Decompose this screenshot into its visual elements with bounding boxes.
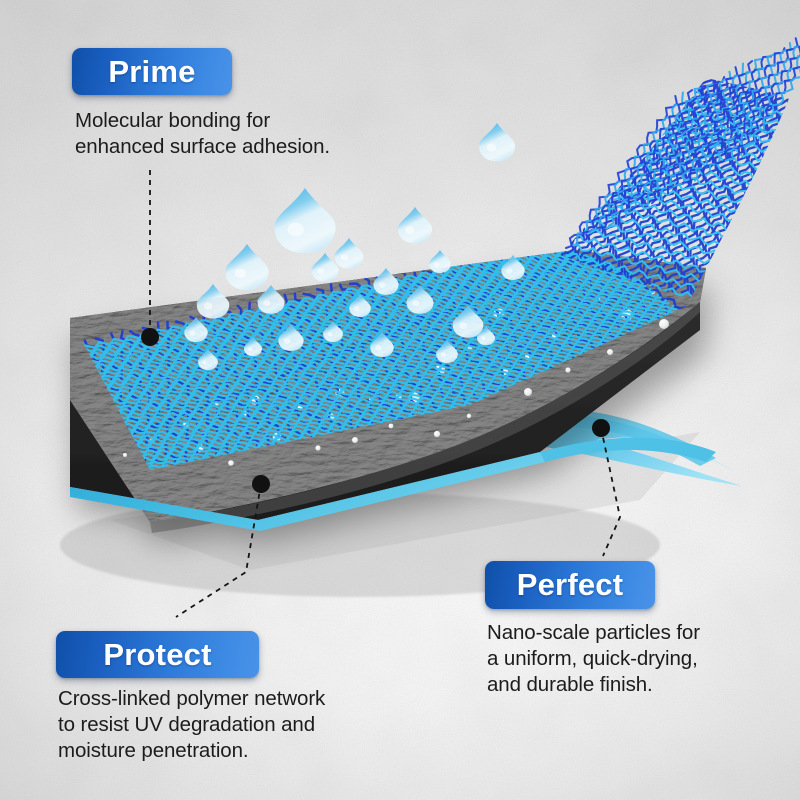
badge-perfect-label: Perfect <box>517 567 624 603</box>
droplet-highlight <box>235 268 246 278</box>
droplet-highlight <box>287 223 303 237</box>
droplet-highlight <box>412 300 419 306</box>
droplet-highlight <box>506 268 512 273</box>
water-droplet <box>429 250 451 273</box>
droplet-highlight <box>341 254 349 260</box>
droplet-highlight <box>284 338 291 344</box>
badge-protect[interactable]: Protect <box>56 631 259 678</box>
droplet-highlight <box>487 143 497 151</box>
droplet-highlight <box>263 300 270 306</box>
droplet-highlight <box>317 268 324 274</box>
droplet-highlight <box>459 322 467 329</box>
water-droplet <box>311 253 338 282</box>
droplet-highlight <box>441 352 447 357</box>
badge-prime[interactable]: Prime <box>72 48 232 95</box>
water-droplet <box>479 123 515 161</box>
water-droplet <box>373 268 398 295</box>
badge-prime-label: Prime <box>108 54 195 90</box>
droplet-highlight <box>379 282 386 288</box>
water-droplet <box>335 238 364 269</box>
droplet-highlight <box>375 345 381 350</box>
water-droplet <box>274 188 335 253</box>
description-protect: Cross-linked polymer network to resist U… <box>58 686 458 763</box>
badge-protect-label: Protect <box>103 637 211 673</box>
water-droplet <box>225 244 268 290</box>
droplet-highlight <box>202 360 207 364</box>
droplet-highlight <box>481 336 486 340</box>
badge-perfect[interactable]: Perfect <box>485 561 655 609</box>
droplet-highlight <box>189 330 195 335</box>
droplet-highlight <box>405 226 414 234</box>
description-perfect: Nano-scale particles for a uniform, quic… <box>487 620 797 697</box>
droplet-highlight <box>204 302 213 309</box>
infographic-canvas: Prime Protect Perfect Molecular bonding … <box>0 0 800 800</box>
droplet-highlight <box>248 347 253 351</box>
droplet-highlight <box>327 332 332 336</box>
water-droplet <box>257 285 284 314</box>
water-droplet <box>197 284 229 319</box>
description-prime: Molecular bonding for enhanced surface a… <box>75 108 415 160</box>
water-droplet <box>398 207 432 243</box>
droplet-highlight <box>354 306 360 311</box>
droplet-highlight <box>434 262 440 267</box>
